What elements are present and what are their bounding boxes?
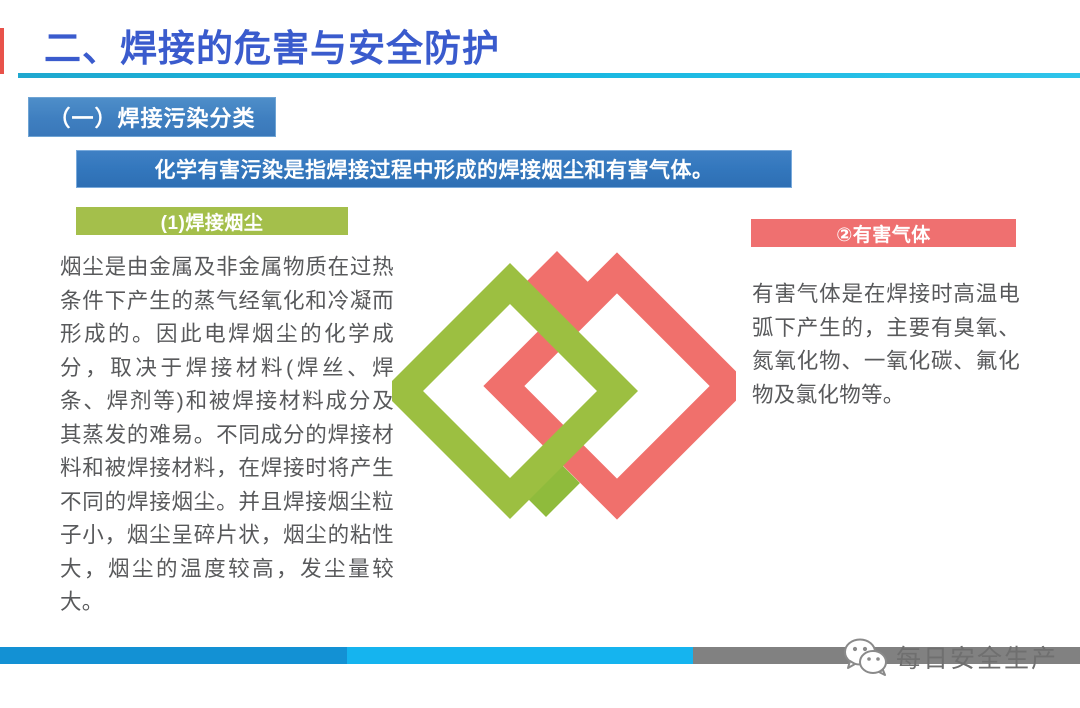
title-divider <box>18 73 1080 78</box>
column-body-welding-fume: 烟尘是由金属及非金属物质在过热条件下产生的蒸气经氧化和冷凝而形成的。因此电焊烟尘… <box>60 251 394 620</box>
column-header-harmful-gas: ②有害气体 <box>751 219 1016 247</box>
diamonds-svg <box>392 243 736 539</box>
footer-bar-segment-2 <box>347 647 693 664</box>
slide-canvas: 二、焊接的危害与安全防护 （一）焊接污染分类 化学有害污染是指焊接过程中形成的焊… <box>0 0 1080 708</box>
wechat-icon <box>844 638 888 676</box>
section-label-chip: （一）焊接污染分类 <box>28 97 276 137</box>
left-accent-bar <box>0 28 4 74</box>
footer-bar-segment-1 <box>0 647 347 664</box>
footer-brand-label: 每日安全生产 <box>896 639 1058 675</box>
overlapping-diamonds-graphic <box>392 243 736 539</box>
column-header-welding-fume: (1)焊接烟尘 <box>76 207 348 235</box>
column-body-harmful-gas: 有害气体是在焊接时高温电弧下产生的，主要有臭氧、氮氧化物、一氧化碳、氟化物及氯化… <box>752 278 1020 412</box>
footer-brand: 每日安全生产 <box>844 634 1058 680</box>
statement-banner: 化学有害污染是指焊接过程中形成的焊接烟尘和有害气体。 <box>76 150 792 188</box>
page-title: 二、焊接的危害与安全防护 <box>44 26 500 72</box>
